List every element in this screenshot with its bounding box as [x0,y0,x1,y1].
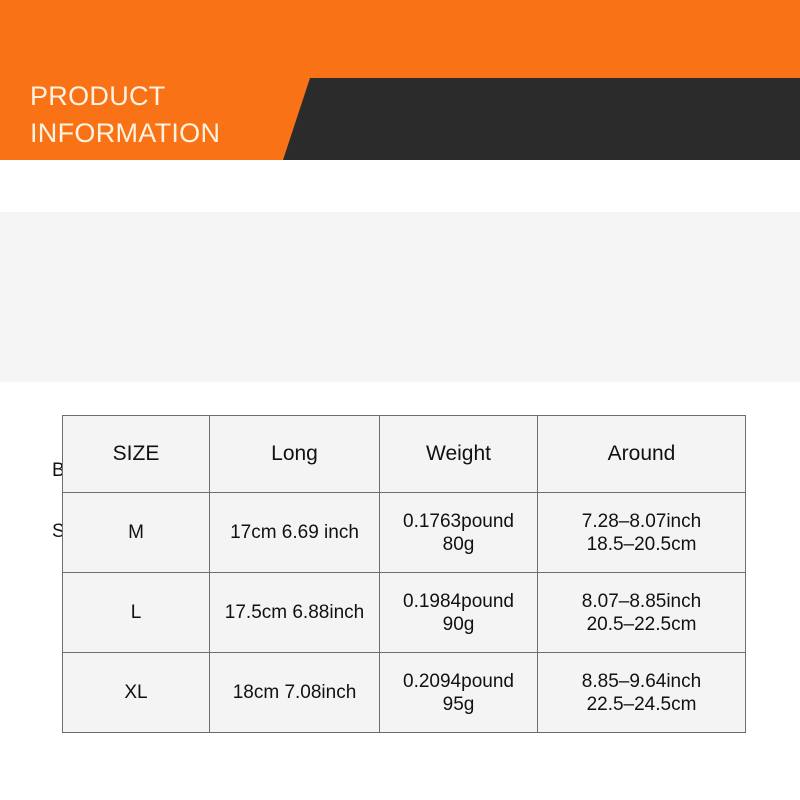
column-header-weight: Weight [380,416,538,493]
weight-gram: 90g [383,613,534,636]
cell-long: 17cm 6.69 inch [210,493,380,573]
table-row: M 17cm 6.69 inch 0.1763pound 80g 7.28–8.… [63,493,746,573]
header-banner: PRODUCT INFORMATION [0,0,800,160]
table-row: L 17.5cm 6.88inch 0.1984pound 90g 8.07–8… [63,573,746,653]
weight-gram: 80g [383,533,534,556]
cell-weight: 0.1984pound 90g [380,573,538,653]
around-inch: 8.85–9.64inch [541,670,742,693]
cell-size: M [63,493,210,573]
cell-size: XL [63,653,210,733]
cell-around: 8.07–8.85inch 20.5–22.5cm [538,573,746,653]
cell-weight: 0.2094pound 95g [380,653,538,733]
cell-long: 18cm 7.08inch [210,653,380,733]
table-row: XL 18cm 7.08inch 0.2094pound 95g 8.85–9.… [63,653,746,733]
cell-long: 17.5cm 6.88inch [210,573,380,653]
column-header-size: SIZE [63,416,210,493]
column-header-long: Long [210,416,380,493]
weight-pound: 0.1984pound [383,590,534,613]
around-cm: 20.5–22.5cm [541,613,742,636]
cell-weight: 0.1763pound 80g [380,493,538,573]
weight-gram: 95g [383,693,534,716]
weight-pound: 0.1763pound [383,510,534,533]
cell-around: 8.85–9.64inch 22.5–24.5cm [538,653,746,733]
cell-size: L [63,573,210,653]
product-attributes-panel: Brand: Self owned brand Season: Spring/S… [0,212,800,382]
page-title: PRODUCT INFORMATION [30,78,220,152]
around-cm: 18.5–20.5cm [541,533,742,556]
cell-around: 7.28–8.07inch 18.5–20.5cm [538,493,746,573]
weight-pound: 0.2094pound [383,670,534,693]
around-cm: 22.5–24.5cm [541,693,742,716]
size-chart-table: SIZE Long Weight Around M 17cm 6.69 inch… [62,415,746,733]
table-header-row: SIZE Long Weight Around [63,416,746,493]
around-inch: 8.07–8.85inch [541,590,742,613]
around-inch: 7.28–8.07inch [541,510,742,533]
column-header-around: Around [538,416,746,493]
